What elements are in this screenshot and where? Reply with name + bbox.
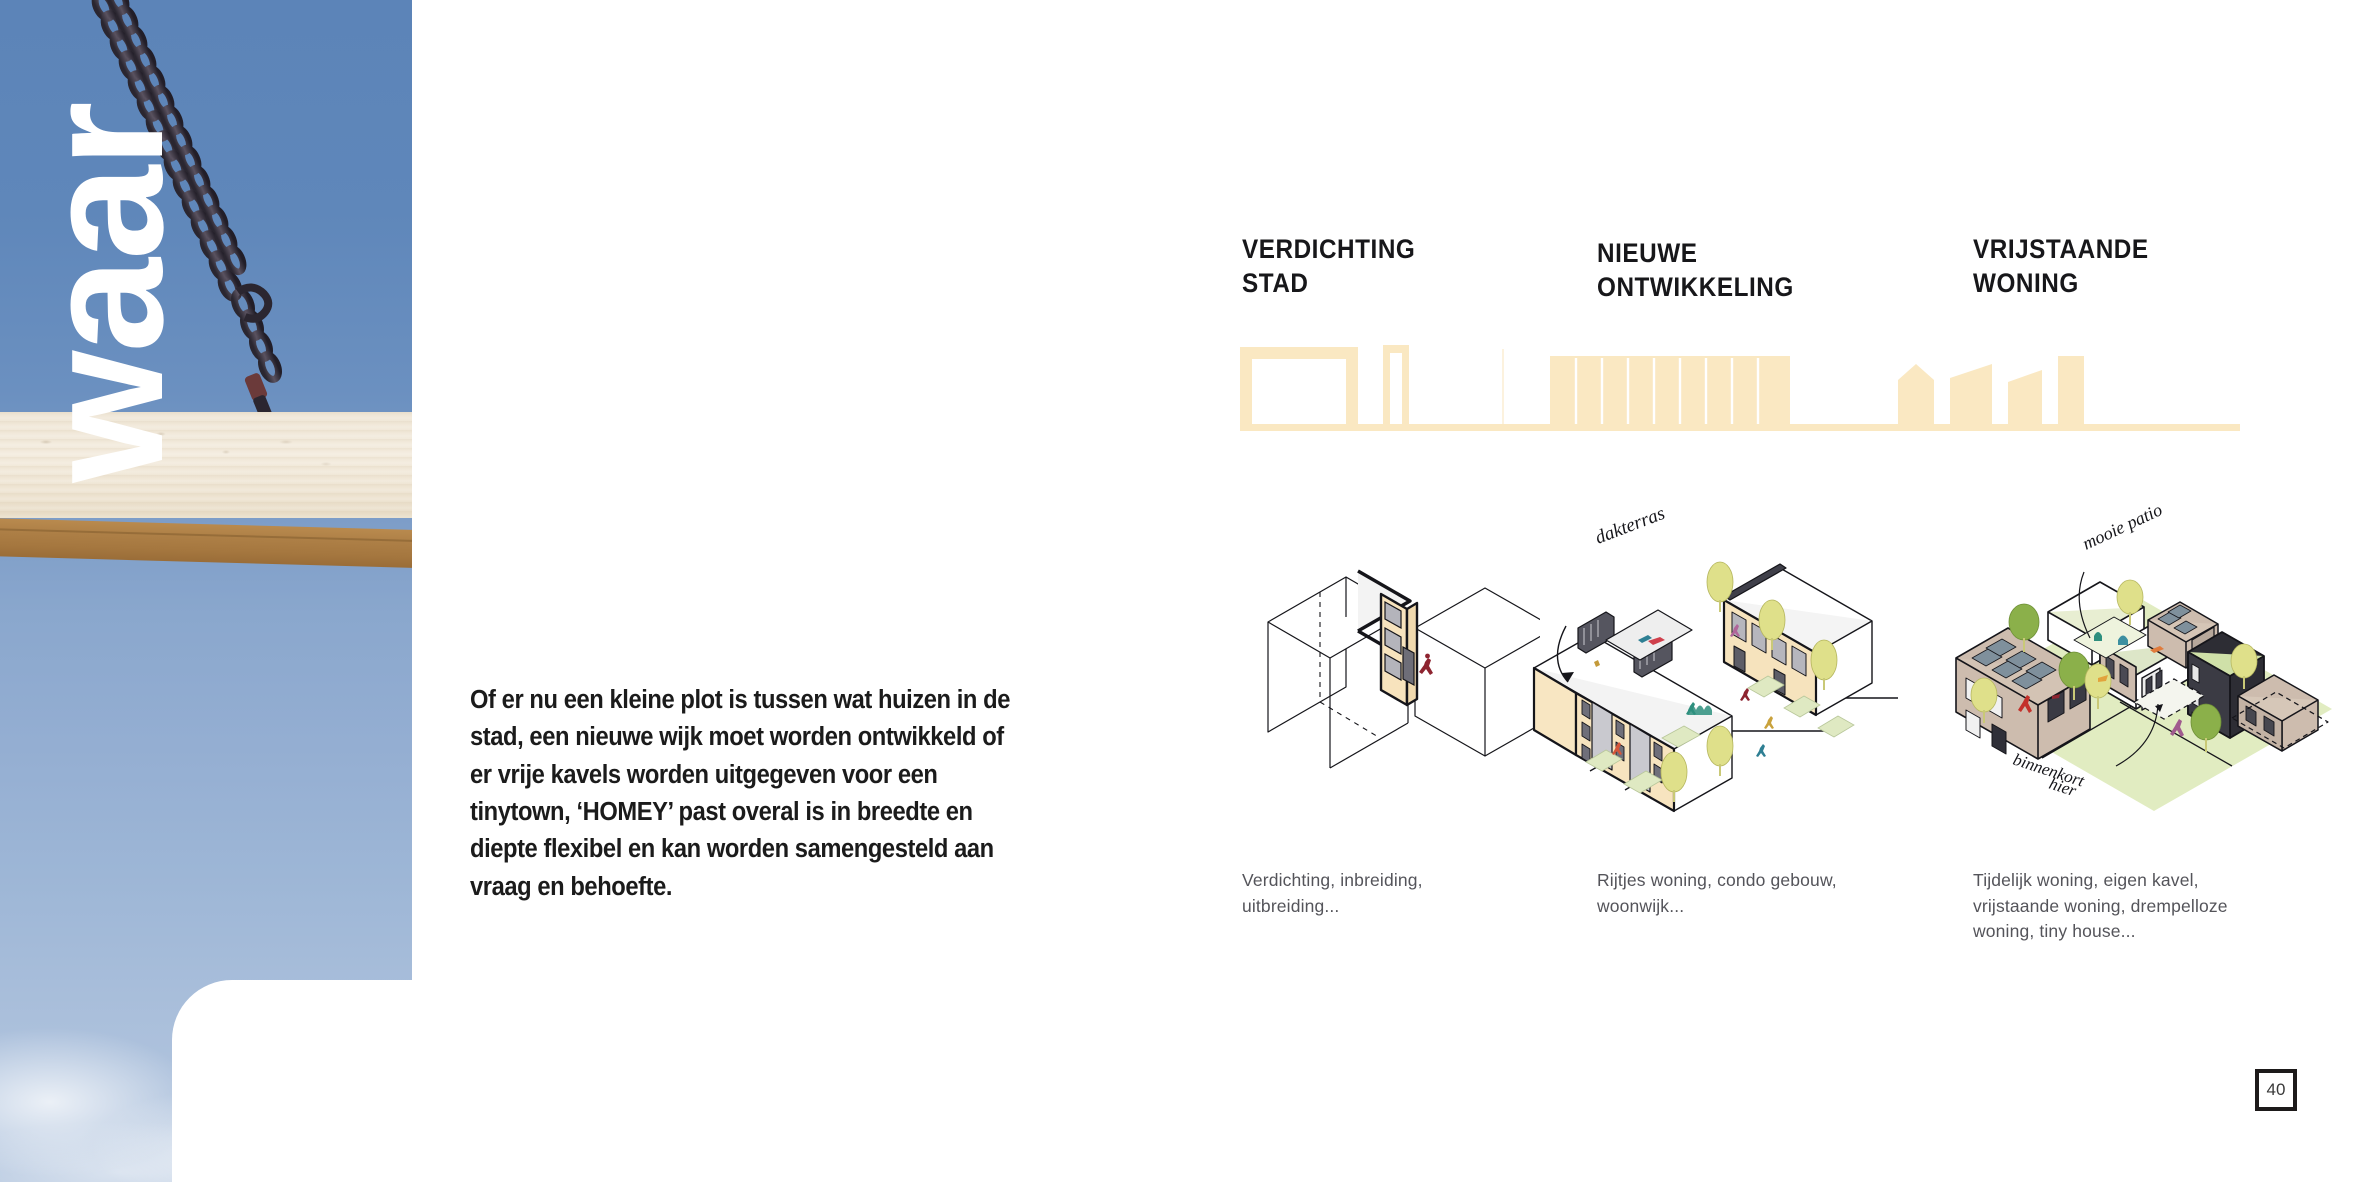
annotation-label-mooie-patio: mooie patio [2079,499,2165,553]
column-caption-verdichting-stad: Verdichting, inbreiding, uitbreiding... [1242,868,1532,919]
intro-paragraph: Of er nu een kleine plot is tussen wat h… [470,682,1028,906]
page-number-box: 40 [2255,1069,2297,1111]
annotation-label-dakterras: dakterras [1592,503,1668,549]
column-caption-vrijstaande-woning: Tijdelijk woning, eigen kavel, vrijstaan… [1973,868,2273,945]
column-heading-vrijstaande-woning: VRIJSTAANDE WONING [1973,232,2149,301]
page-number-label: 40 [2259,1073,2293,1108]
elevation-group-vrijstaande-woning [1898,356,2084,424]
white-corner-mask [172,980,412,1182]
elevation-silhouette-diagram [1240,340,2240,440]
column-heading-nieuwe-ontwikkeling: NIEUWE ONTWIKKELING [1597,236,1794,305]
isometric-row-housing: dakterras [1512,500,1932,820]
section-title-text: waar [19,83,189,503]
elevation-group-nieuwe-ontwikkeling [1550,356,1790,424]
column-caption-nieuwe-ontwikkeling: Rijtjes woning, condo gebouw, woonwijk..… [1597,868,1887,919]
elevation-baseline [1240,424,2240,431]
column-heading-verdichting-stad: VERDICHTING STAD [1242,232,1415,301]
cover-photo-panel: waar [0,0,412,1182]
isometric-infill-building [1240,510,1540,810]
elevation-group-verdichting [1240,345,1504,424]
isometric-detached-houses: mooie patio binnenkort hier [1952,488,2363,818]
